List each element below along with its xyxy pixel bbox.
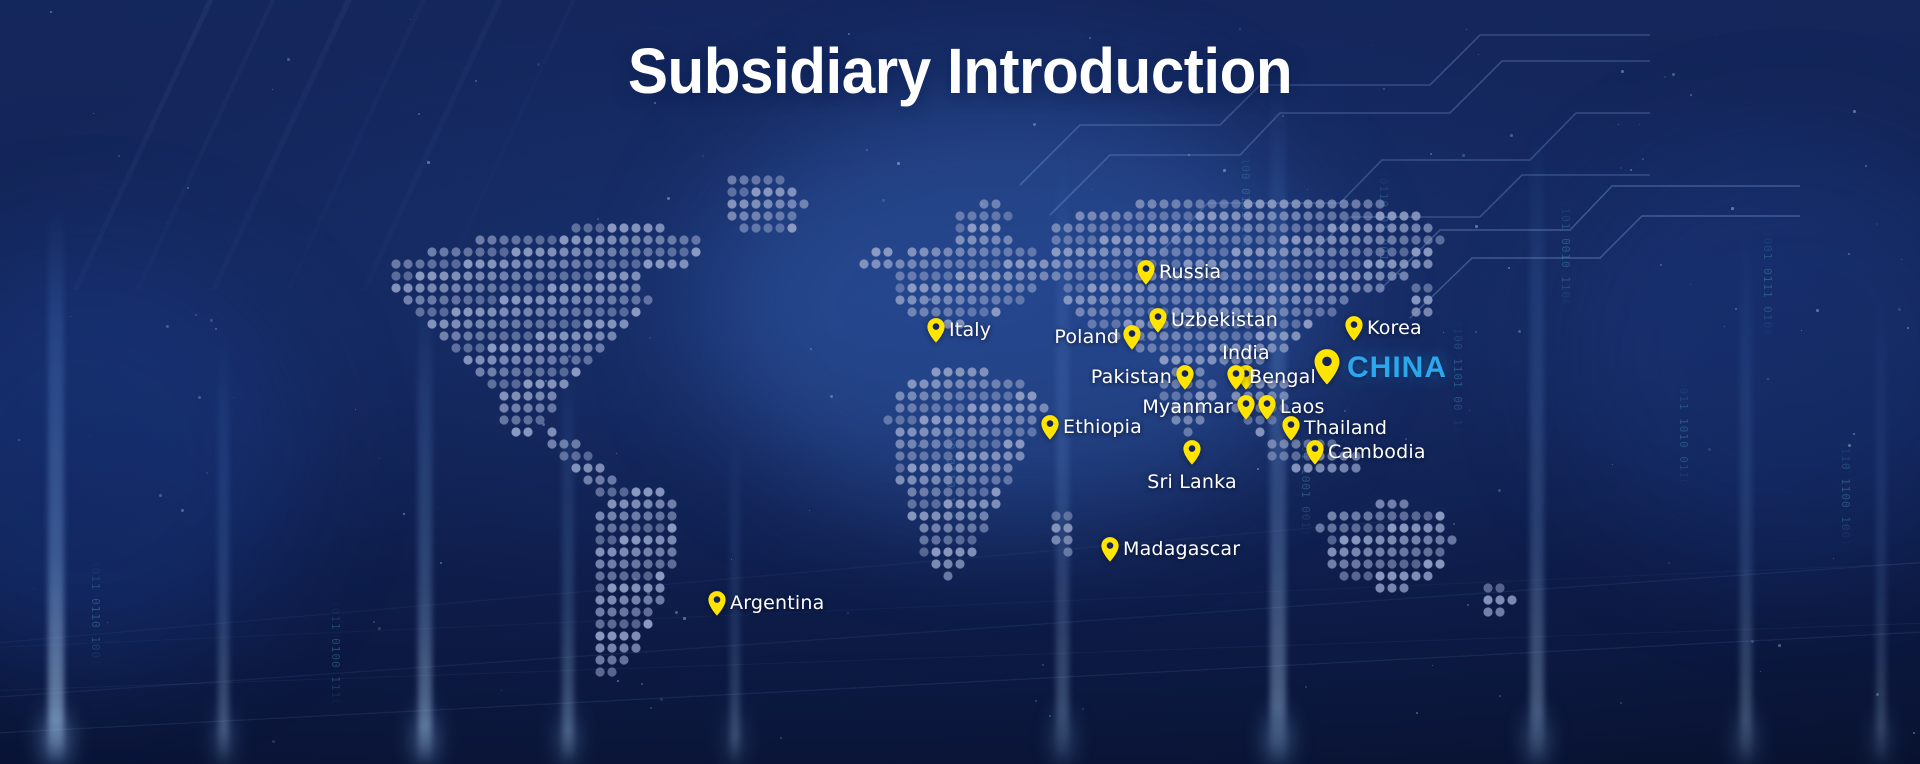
- map-dot: [499, 367, 508, 376]
- map-dot: [943, 571, 952, 580]
- map-dot: [559, 379, 568, 388]
- map-dot: [1303, 283, 1312, 292]
- map-dot: [1339, 199, 1348, 208]
- map-dot: [1363, 223, 1372, 232]
- map-dot: [547, 307, 556, 316]
- map-pin-icon[interactable]: [927, 318, 945, 343]
- map-dot: [1315, 223, 1324, 232]
- map-dot: [1075, 211, 1084, 220]
- map-dot: [571, 283, 580, 292]
- map-pin-icon[interactable]: [708, 591, 726, 616]
- map-dot: [967, 271, 976, 280]
- map-dot: [1351, 571, 1360, 580]
- map-dot: [979, 511, 988, 520]
- map-dot: [1003, 211, 1012, 220]
- map-dot: [1195, 331, 1204, 340]
- map-dot: [967, 295, 976, 304]
- map-dot: [499, 247, 508, 256]
- map-dot: [619, 607, 628, 616]
- map-dot: [583, 271, 592, 280]
- map-dot: [1339, 247, 1348, 256]
- map-dot: [1387, 271, 1396, 280]
- map-dot: [1207, 283, 1216, 292]
- map-dot: [511, 283, 520, 292]
- map-dot: [1351, 547, 1360, 556]
- map-dot: [1027, 391, 1036, 400]
- map-dot: [931, 463, 940, 472]
- map-dot: [499, 403, 508, 412]
- map-dot: [991, 415, 1000, 424]
- map-dot: [1387, 571, 1396, 580]
- map-dot: [1123, 271, 1132, 280]
- map-dot: [595, 607, 604, 616]
- map-dot: [1027, 403, 1036, 412]
- map-dot: [619, 499, 628, 508]
- map-dot: [1267, 331, 1276, 340]
- map-dot: [415, 259, 424, 268]
- map-dot: [1387, 583, 1396, 592]
- map-dot: [787, 187, 796, 196]
- map-dot: [1135, 235, 1144, 244]
- map-dot: [907, 379, 916, 388]
- map-dot: [547, 259, 556, 268]
- map-dot: [607, 631, 616, 640]
- map-dot: [1375, 199, 1384, 208]
- map-dot: [1003, 283, 1012, 292]
- map-dot: [1159, 223, 1168, 232]
- map-pin-icon[interactable]: [1237, 395, 1255, 420]
- map-dot: [607, 295, 616, 304]
- map-dot: [871, 247, 880, 256]
- map-dot: [1291, 271, 1300, 280]
- map-dot: [547, 295, 556, 304]
- map-dot: [655, 499, 664, 508]
- map-dot: [1483, 607, 1492, 616]
- map-dot: [1123, 211, 1132, 220]
- map-dot: [1423, 571, 1432, 580]
- map-dot: [523, 427, 532, 436]
- map-dot: [1015, 379, 1024, 388]
- map-pin-icon[interactable]: [1282, 416, 1300, 441]
- map-dot: [427, 307, 436, 316]
- map-dot: [1075, 283, 1084, 292]
- map-dot: [751, 211, 760, 220]
- map-dot: [1003, 427, 1012, 436]
- map-dot: [955, 379, 964, 388]
- map-dot: [427, 247, 436, 256]
- map-pin-icon[interactable]: [1314, 349, 1340, 385]
- map-dot: [1219, 223, 1228, 232]
- map-dot: [1363, 259, 1372, 268]
- map-dot: [535, 367, 544, 376]
- map-dot: [1111, 247, 1120, 256]
- map-dot: [439, 283, 448, 292]
- map-dot: [439, 331, 448, 340]
- map-dot: [955, 259, 964, 268]
- map-dot: [763, 187, 772, 196]
- map-dot: [1243, 223, 1252, 232]
- map-dot: [607, 583, 616, 592]
- map-dot: [895, 259, 904, 268]
- map-dot: [643, 295, 652, 304]
- map-dot: [1255, 295, 1264, 304]
- map-dot: [1075, 307, 1084, 316]
- map-dot: [1087, 235, 1096, 244]
- map-dot: [1375, 211, 1384, 220]
- map-dot: [607, 331, 616, 340]
- map-dot: [1183, 223, 1192, 232]
- map-dot: [1423, 259, 1432, 268]
- map-dot: [463, 271, 472, 280]
- map-dot: [943, 523, 952, 532]
- map-dot: [631, 223, 640, 232]
- map-dot: [667, 523, 676, 532]
- map-dot: [1495, 607, 1504, 616]
- map-dot: [475, 295, 484, 304]
- map-dot: [1231, 295, 1240, 304]
- map-dot: [511, 331, 520, 340]
- map-dot: [427, 283, 436, 292]
- map-dot: [667, 235, 676, 244]
- map-dot: [1087, 307, 1096, 316]
- map-dot: [1279, 451, 1288, 460]
- map-dot: [1195, 295, 1204, 304]
- map-dot: [391, 271, 400, 280]
- map-dot: [559, 367, 568, 376]
- map-dot: [535, 271, 544, 280]
- map-dot: [1255, 223, 1264, 232]
- map-dot: [1315, 247, 1324, 256]
- map-dot: [979, 199, 988, 208]
- map-dot: [571, 295, 580, 304]
- map-pin-icon[interactable]: [1123, 325, 1141, 350]
- map-pin-icon[interactable]: [1149, 308, 1167, 333]
- map-dot: [499, 319, 508, 328]
- map-dot: [943, 271, 952, 280]
- map-dot: [655, 487, 664, 496]
- map-dot: [955, 523, 964, 532]
- map-dot: [1387, 211, 1396, 220]
- map-dot: [1135, 211, 1144, 220]
- map-dot: [1363, 271, 1372, 280]
- map-dot: [1195, 235, 1204, 244]
- map-dot: [655, 571, 664, 580]
- map-dot: [415, 295, 424, 304]
- map-dot: [1423, 247, 1432, 256]
- map-dot: [1267, 283, 1276, 292]
- map-dot: [1279, 319, 1288, 328]
- map-dot: [1171, 295, 1180, 304]
- map-dot: [1003, 439, 1012, 448]
- map-pin-icon[interactable]: [1227, 365, 1245, 390]
- map-dot: [631, 631, 640, 640]
- map-dot: [751, 175, 760, 184]
- map-dot: [655, 523, 664, 532]
- map-dot: [1195, 211, 1204, 220]
- map-dot: [559, 439, 568, 448]
- map-dot: [895, 295, 904, 304]
- map-dot: [403, 295, 412, 304]
- map-dot: [631, 583, 640, 592]
- map-dot: [607, 271, 616, 280]
- map-dot: [955, 235, 964, 244]
- map-dot: [691, 247, 700, 256]
- map-dot: [1003, 475, 1012, 484]
- map-dot: [511, 403, 520, 412]
- map-dot: [1351, 211, 1360, 220]
- map-dot: [1207, 223, 1216, 232]
- map-dot: [511, 259, 520, 268]
- map-pin-icon[interactable]: [1137, 260, 1155, 285]
- map-dot: [1123, 247, 1132, 256]
- map-dot: [1279, 331, 1288, 340]
- map-dot: [1123, 307, 1132, 316]
- map-pin-icon[interactable]: [1101, 537, 1119, 562]
- map-dot: [739, 223, 748, 232]
- map-dot: [451, 247, 460, 256]
- map-dot: [1399, 559, 1408, 568]
- map-dot: [1159, 235, 1168, 244]
- map-dot: [463, 307, 472, 316]
- map-dot: [955, 211, 964, 220]
- map-dot: [967, 487, 976, 496]
- map-marker-label: CHINA: [1347, 351, 1447, 385]
- map-dot: [535, 319, 544, 328]
- map-dot: [595, 283, 604, 292]
- map-dot: [919, 535, 928, 544]
- map-dot: [607, 511, 616, 520]
- map-dot: [1243, 271, 1252, 280]
- map-dot: [595, 487, 604, 496]
- map-dot: [1267, 295, 1276, 304]
- map-dot: [1183, 235, 1192, 244]
- map-dot: [1159, 355, 1168, 364]
- map-dot: [1207, 331, 1216, 340]
- map-dot: [979, 439, 988, 448]
- map-dot: [523, 307, 532, 316]
- map-dot: [595, 619, 604, 628]
- map-dot: [955, 367, 964, 376]
- map-dot: [727, 199, 736, 208]
- map-dot: [571, 367, 580, 376]
- map-dot: [1087, 283, 1096, 292]
- map-dot: [451, 271, 460, 280]
- map-dot: [559, 235, 568, 244]
- map-dot: [1039, 271, 1048, 280]
- map-dot: [1339, 235, 1348, 244]
- map-dot: [595, 571, 604, 580]
- map-dot: [991, 199, 1000, 208]
- map-dot: [751, 199, 760, 208]
- map-dot: [967, 415, 976, 424]
- map-dot: [523, 271, 532, 280]
- map-dot: [667, 559, 676, 568]
- map-dot: [583, 355, 592, 364]
- map-dot: [1087, 259, 1096, 268]
- map-dot: [535, 403, 544, 412]
- map-dot: [643, 499, 652, 508]
- map-dot: [763, 175, 772, 184]
- map-dot: [907, 307, 916, 316]
- map-dot: [991, 211, 1000, 220]
- map-pin-icon[interactable]: [1345, 316, 1363, 341]
- map-dot: [979, 271, 988, 280]
- map-dot: [967, 235, 976, 244]
- map-dot: [1003, 379, 1012, 388]
- map-dot: [1411, 571, 1420, 580]
- map-dot: [1411, 223, 1420, 232]
- map-dot: [979, 247, 988, 256]
- map-dot: [559, 319, 568, 328]
- map-dot: [1207, 211, 1216, 220]
- map-dot: [1315, 295, 1324, 304]
- map-dot: [547, 343, 556, 352]
- map-dot: [1327, 295, 1336, 304]
- map-dot: [955, 295, 964, 304]
- map-dot: [955, 439, 964, 448]
- map-dot: [1327, 511, 1336, 520]
- map-dot: [1351, 247, 1360, 256]
- map-dot: [523, 367, 532, 376]
- map-dot: [1399, 535, 1408, 544]
- map-dot: [1015, 415, 1024, 424]
- map-dot: [1147, 247, 1156, 256]
- map-dot: [1279, 223, 1288, 232]
- map-dot: [895, 403, 904, 412]
- map-dot: [955, 283, 964, 292]
- map-dot: [511, 367, 520, 376]
- map-dot: [463, 295, 472, 304]
- map-dot: [463, 283, 472, 292]
- map-dot: [1099, 283, 1108, 292]
- map-dot: [1375, 511, 1384, 520]
- map-dot: [1279, 199, 1288, 208]
- map-dot: [931, 307, 940, 316]
- map-dot: [1411, 547, 1420, 556]
- map-dot: [1135, 307, 1144, 316]
- map-dot: [631, 259, 640, 268]
- map-pin-icon[interactable]: [1306, 440, 1324, 465]
- map-dot: [979, 307, 988, 316]
- map-dot: [1387, 523, 1396, 532]
- map-dot: [667, 535, 676, 544]
- map-dot: [1303, 247, 1312, 256]
- map-dot: [607, 547, 616, 556]
- map-dot: [655, 259, 664, 268]
- map-dot: [1267, 439, 1276, 448]
- map-dot: [1303, 211, 1312, 220]
- map-dot: [1051, 247, 1060, 256]
- map-dot: [919, 283, 928, 292]
- map-dot: [1087, 211, 1096, 220]
- map-dot: [1207, 379, 1216, 388]
- map-dot: [1231, 211, 1240, 220]
- map-dot: [619, 283, 628, 292]
- map-pin-icon[interactable]: [1258, 395, 1276, 420]
- map-dot: [619, 655, 628, 664]
- map-dot: [1183, 427, 1192, 436]
- map-dot: [1387, 547, 1396, 556]
- map-dot: [631, 271, 640, 280]
- map-dot: [1423, 235, 1432, 244]
- map-dot: [1387, 235, 1396, 244]
- map-dot: [1351, 235, 1360, 244]
- map-dot: [943, 391, 952, 400]
- map-dot: [907, 415, 916, 424]
- map-dot: [1195, 199, 1204, 208]
- map-dot: [1039, 403, 1048, 412]
- map-dot: [1075, 247, 1084, 256]
- map-dot: [943, 487, 952, 496]
- map-dot: [1015, 451, 1024, 460]
- map-pin-icon[interactable]: [1176, 365, 1194, 390]
- map-pin-icon[interactable]: [1183, 440, 1201, 465]
- map-dot: [1147, 343, 1156, 352]
- map-dot: [667, 499, 676, 508]
- map-dot: [1195, 379, 1204, 388]
- map-dot: [895, 427, 904, 436]
- hero-banner: 10110 01 0010 11 0100 1101 00 11 1101 00…: [0, 0, 1920, 764]
- map-dot: [1171, 211, 1180, 220]
- map-dot: [1255, 427, 1264, 436]
- map-dot: [475, 235, 484, 244]
- map-dot: [415, 307, 424, 316]
- map-dot: [583, 331, 592, 340]
- map-dot: [499, 331, 508, 340]
- map-dot: [643, 223, 652, 232]
- map-dot: [487, 235, 496, 244]
- map-dot: [631, 619, 640, 628]
- map-dot: [1363, 571, 1372, 580]
- map-dot: [547, 319, 556, 328]
- map-dot: [547, 427, 556, 436]
- map-dot: [1327, 283, 1336, 292]
- map-dot: [595, 319, 604, 328]
- map-dot: [943, 427, 952, 436]
- map-dot: [1351, 259, 1360, 268]
- map-dot: [1003, 235, 1012, 244]
- map-dot: [1363, 235, 1372, 244]
- map-dot: [1015, 391, 1024, 400]
- map-dot: [967, 535, 976, 544]
- map-dot: [1183, 283, 1192, 292]
- map-dot: [967, 379, 976, 388]
- map-dot: [583, 475, 592, 484]
- map-dot: [907, 391, 916, 400]
- map-dot: [1411, 535, 1420, 544]
- map-dot: [643, 487, 652, 496]
- map-dot: [403, 259, 412, 268]
- map-dot: [439, 295, 448, 304]
- map-dot: [643, 619, 652, 628]
- map-dot: [775, 175, 784, 184]
- map-marker-label: Korea: [1367, 317, 1422, 339]
- map-dot: [547, 439, 556, 448]
- map-dot: [1387, 511, 1396, 520]
- map-dot: [403, 271, 412, 280]
- map-dot: [643, 607, 652, 616]
- map-dot: [1339, 283, 1348, 292]
- map-dot: [1315, 211, 1324, 220]
- map-dot: [1111, 283, 1120, 292]
- map-dot: [955, 559, 964, 568]
- map-dot: [919, 523, 928, 532]
- map-dot: [487, 247, 496, 256]
- map-dot: [1243, 259, 1252, 268]
- map-dot: [991, 223, 1000, 232]
- map-dot: [1195, 367, 1204, 376]
- map-pin-icon[interactable]: [1041, 415, 1059, 440]
